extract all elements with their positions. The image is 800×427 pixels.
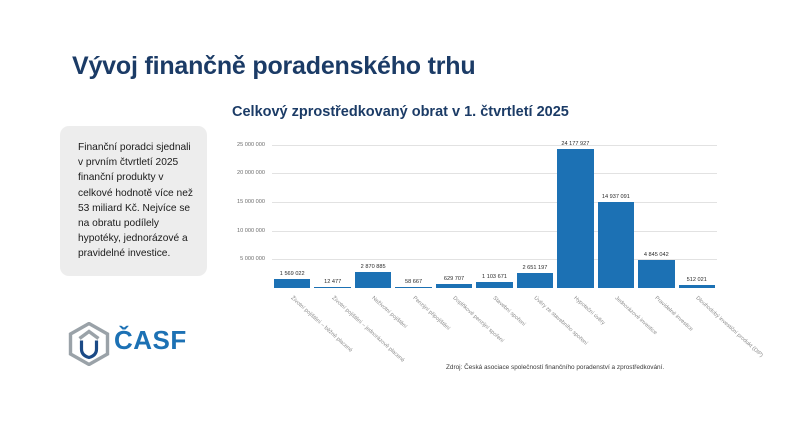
bar-column: 12 477 [314, 136, 350, 288]
bar-column: 1 569 022 [274, 136, 310, 288]
x-axis-label-slot: Doplňkové penzijní spoření [436, 294, 472, 364]
bar-value-label: 24 177 927 [561, 141, 589, 147]
x-axis-label: Dlouhodobý investiční produkt (DIP) [694, 295, 763, 358]
casf-logo: ČASF [68, 320, 198, 368]
bar[interactable] [355, 272, 391, 288]
y-axis-tick: 10 000 000 [195, 228, 265, 234]
page-title: Vývoj finančně poradenského trhu [72, 52, 475, 81]
y-axis-tick: 25 000 000 [195, 142, 265, 148]
source-note: Zdroj: Česká asociace společností finanč… [446, 364, 664, 371]
bar[interactable] [517, 273, 553, 288]
x-axis-label-slot: Hypoteční úvěry [557, 294, 593, 364]
x-axis-label-slot: Neživotní pojištění [355, 294, 391, 364]
bar-value-label: 12 477 [324, 279, 341, 285]
bar[interactable] [395, 287, 431, 288]
y-axis-tick: 5 000 000 [195, 256, 265, 262]
bar-column: 24 177 927 [557, 136, 593, 288]
bar[interactable] [436, 284, 472, 288]
bar-column: 2 651 197 [517, 136, 553, 288]
bar[interactable] [679, 285, 715, 288]
bar-column: 2 870 885 [355, 136, 391, 288]
callout-box: Finanční poradci sjednali v prvním čtvrt… [60, 126, 207, 276]
bar-value-label: 2 651 197 [522, 265, 547, 271]
bar-value-label: 2 870 885 [361, 264, 386, 270]
y-axis-tick: 15 000 000 [195, 199, 265, 205]
chart-subtitle: Celkový zprostředkovaný obrat v 1. čtvrt… [232, 104, 569, 120]
plot-area: 25 000 00020 000 00015 000 00010 000 000… [272, 136, 717, 288]
shield-hexagon-icon [68, 322, 110, 366]
bar-value-label: 1 103 671 [482, 274, 507, 280]
bar-chart: 25 000 00020 000 00015 000 00010 000 000… [222, 128, 732, 363]
bar-column: 14 937 091 [598, 136, 634, 288]
bar-column: 512 021 [679, 136, 715, 288]
x-axis-label-slot: Úvěry ze stavebního spoření [517, 294, 553, 364]
bar[interactable] [557, 149, 593, 288]
x-axis-labels: Životní pojištění – běžně placenéŽivotní… [272, 294, 717, 364]
x-axis-label-slot: Jednorázové investice [598, 294, 634, 364]
x-axis-label-slot: Životní pojištění – běžně placené [274, 294, 310, 364]
bar[interactable] [476, 282, 512, 288]
bar-column: 58 667 [395, 136, 431, 288]
x-axis-label-slot: Penzijní připojištění [395, 294, 431, 364]
bar-column: 629 707 [436, 136, 472, 288]
logo-wordmark: ČASF [114, 325, 187, 356]
bar-value-label: 4 845 042 [644, 252, 669, 258]
bar[interactable] [314, 287, 350, 288]
bar-column: 1 103 671 [476, 136, 512, 288]
x-axis-label-slot: Dlouhodobý investiční produkt (DIP) [679, 294, 715, 364]
bar-value-label: 629 707 [444, 276, 464, 282]
bar[interactable] [638, 260, 674, 288]
bar-series: 1 569 02212 4772 870 88558 667629 7071 1… [272, 136, 717, 288]
bar-value-label: 512 021 [687, 277, 707, 283]
bar-value-label: 1 569 022 [280, 271, 305, 277]
x-axis-label-slot: Životní pojištění – jednorázově placené [314, 294, 350, 364]
bar-value-label: 14 937 091 [602, 194, 630, 200]
x-axis-label-slot: Pravidelné investice [638, 294, 674, 364]
bar-value-label: 58 667 [405, 279, 422, 285]
infographic-slide: Vývoj finančně poradenského trhu Celkový… [0, 0, 800, 427]
callout-text: Finanční poradci sjednali v prvním čtvrt… [78, 140, 193, 262]
x-axis-label-slot: Stavební spoření [476, 294, 512, 364]
bar[interactable] [598, 202, 634, 288]
bar[interactable] [274, 279, 310, 288]
y-axis-tick: 20 000 000 [195, 170, 265, 176]
bar-column: 4 845 042 [638, 136, 674, 288]
